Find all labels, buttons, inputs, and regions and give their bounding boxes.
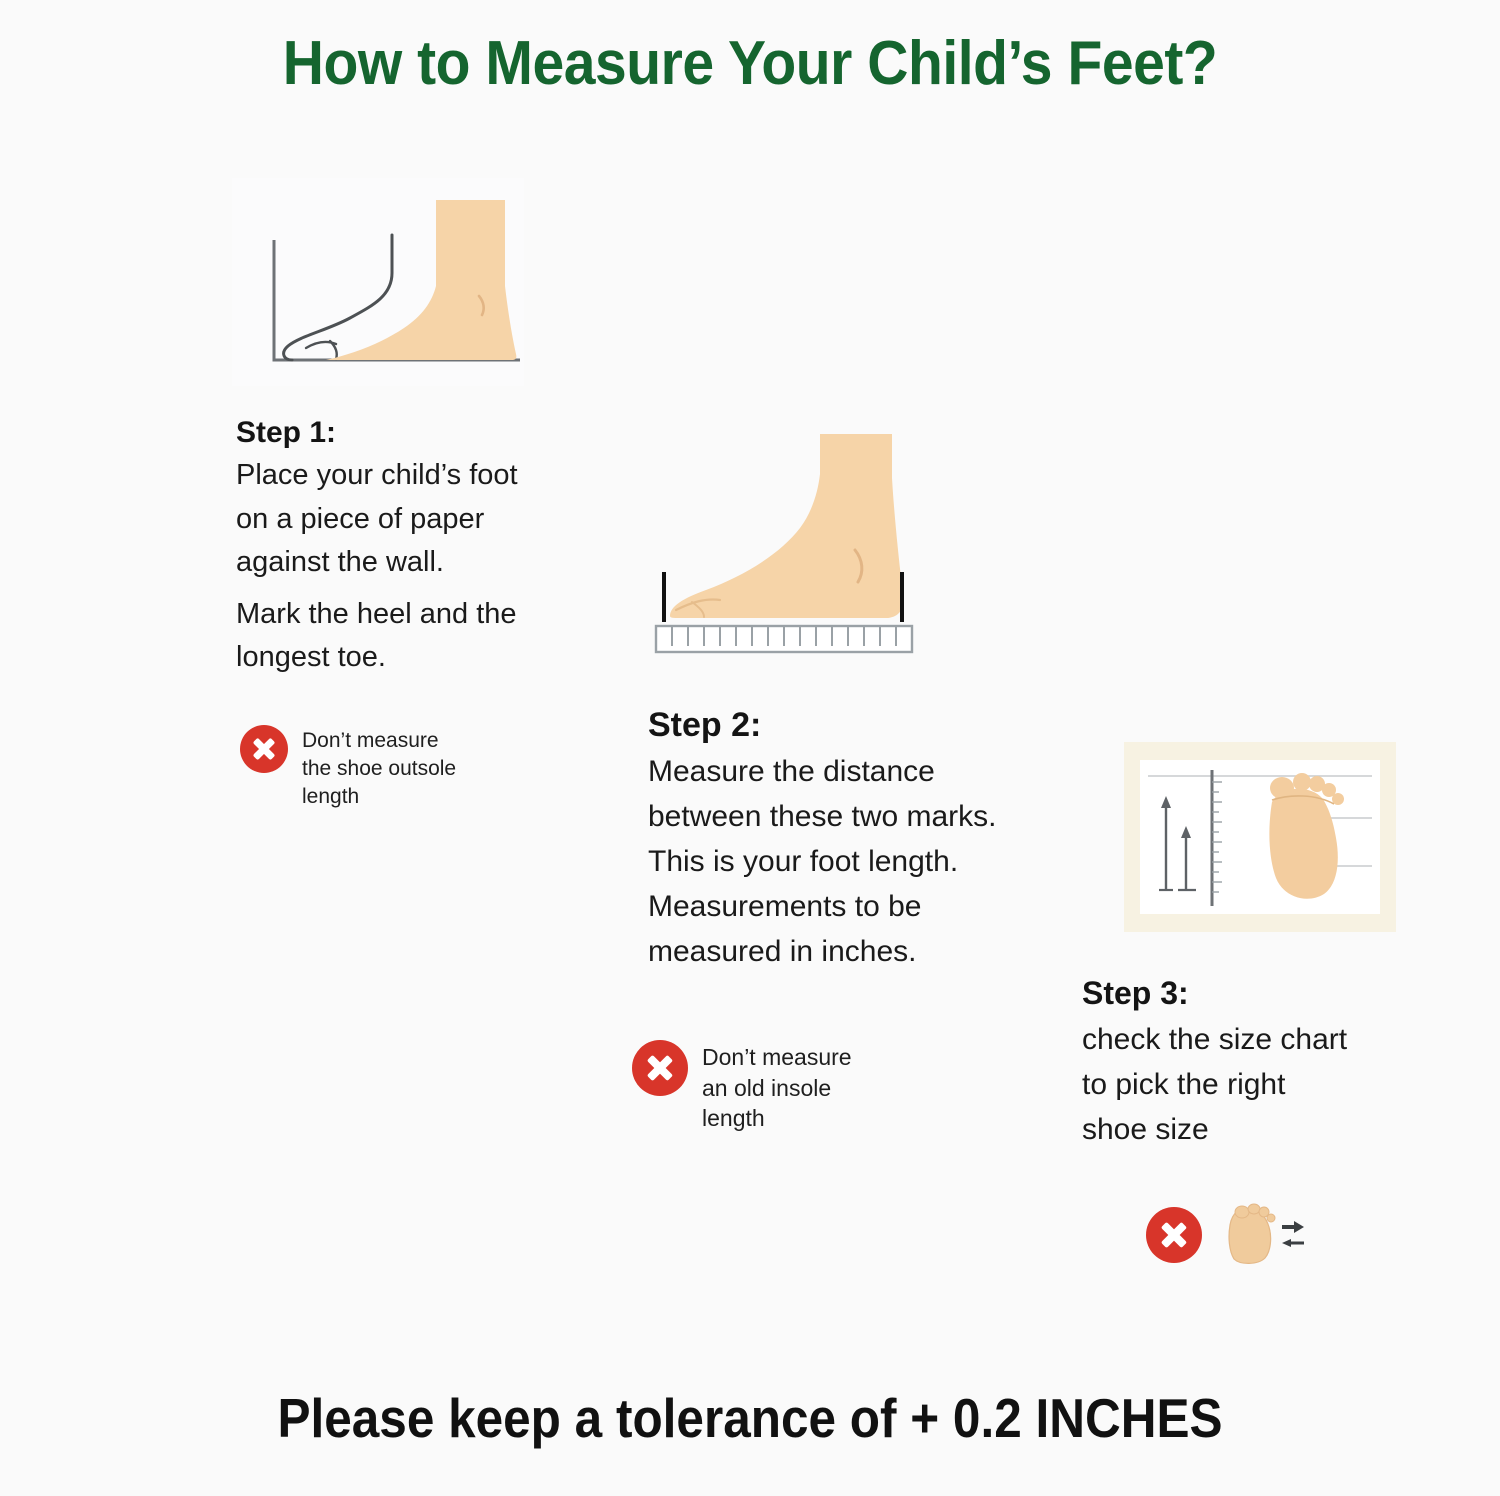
step-2-warning-line-3: length bbox=[702, 1103, 852, 1134]
foot-side-against-wall-graphic bbox=[232, 178, 524, 386]
step-3-warning bbox=[1146, 1203, 1376, 1267]
red-x-circle-icon bbox=[240, 725, 288, 773]
step-3-chart-area bbox=[1140, 760, 1380, 914]
step-1-line-1: Place your child’s foot bbox=[236, 454, 566, 498]
step-1-warning-line-2: the shoe outsole bbox=[302, 755, 456, 783]
step-3-warning-foot-arrows bbox=[1220, 1203, 1280, 1267]
step-1-warning-line-3: length bbox=[302, 783, 456, 811]
step-1-body: Place your child’s foot on a piece of pa… bbox=[236, 454, 566, 680]
step-1-warning-text: Don’t measure the shoe outsole length bbox=[302, 725, 456, 811]
step-2-illustration bbox=[640, 420, 940, 660]
step-2-line-3: This is your foot length. bbox=[648, 839, 1088, 884]
step-2-warning-line-1: Don’t measure bbox=[702, 1042, 852, 1073]
step-2: Step 2: Measure the distance between the… bbox=[648, 705, 1088, 974]
step-1: Step 1: Place your child’s foot on a pie… bbox=[236, 415, 566, 680]
foot-sole-on-size-chart-graphic bbox=[1140, 760, 1380, 914]
step-3-title: Step 3: bbox=[1082, 975, 1412, 1013]
step-2-title: Step 2: bbox=[648, 705, 1088, 745]
step-1-line-5: longest toe. bbox=[236, 636, 566, 680]
step-3: Step 3: check the size chart to pick the… bbox=[1082, 975, 1412, 1152]
step-1-warning-line-1: Don’t measure bbox=[302, 727, 456, 755]
tolerance-note: Please keep a tolerance of + 0.2 INCHES bbox=[75, 1386, 1425, 1450]
step-2-warning: Don’t measure an old insole length bbox=[632, 1040, 932, 1134]
step-3-line-3: shoe size bbox=[1082, 1107, 1412, 1152]
arrow-right-icon bbox=[1282, 1221, 1304, 1233]
red-x-circle-icon bbox=[632, 1040, 688, 1096]
step-2-line-1: Measure the distance bbox=[648, 749, 1088, 794]
step-2-warning-text: Don’t measure an old insole length bbox=[702, 1040, 852, 1134]
step-3-illustration bbox=[1124, 742, 1396, 932]
step-3-body: check the size chart to pick the right s… bbox=[1082, 1017, 1412, 1152]
infographic-page: How to Measure Your Child’s Feet? Step 1… bbox=[0, 0, 1500, 1496]
page-title: How to Measure Your Child’s Feet? bbox=[60, 28, 1440, 99]
step-1-line-4: Mark the heel and the bbox=[236, 593, 566, 637]
step-3-line-1: check the size chart bbox=[1082, 1017, 1412, 1062]
step-2-line-2: between these two marks. bbox=[648, 794, 1088, 839]
red-x-circle-icon bbox=[1146, 1207, 1202, 1263]
step-2-line-5: measured in inches. bbox=[648, 929, 1088, 974]
step-1-title: Step 1: bbox=[236, 415, 566, 450]
step-3-line-2: to pick the right bbox=[1082, 1062, 1412, 1107]
step-1-spacer bbox=[236, 585, 566, 593]
step-2-body: Measure the distance between these two m… bbox=[648, 749, 1088, 974]
step-1-line-2: on a piece of paper bbox=[236, 498, 566, 542]
foot-sole-squeeze-graphic bbox=[1220, 1203, 1306, 1267]
step-2-line-4: Measurements to be bbox=[648, 884, 1088, 929]
step-1-illustration bbox=[232, 178, 524, 386]
step-1-line-3: against the wall. bbox=[236, 541, 566, 585]
arrow-left-icon bbox=[1282, 1239, 1304, 1247]
step-2-warning-line-2: an old insole bbox=[702, 1073, 852, 1104]
foot-side-with-ruler-graphic bbox=[640, 420, 940, 660]
step-1-warning: Don’t measure the shoe outsole length bbox=[240, 725, 540, 811]
